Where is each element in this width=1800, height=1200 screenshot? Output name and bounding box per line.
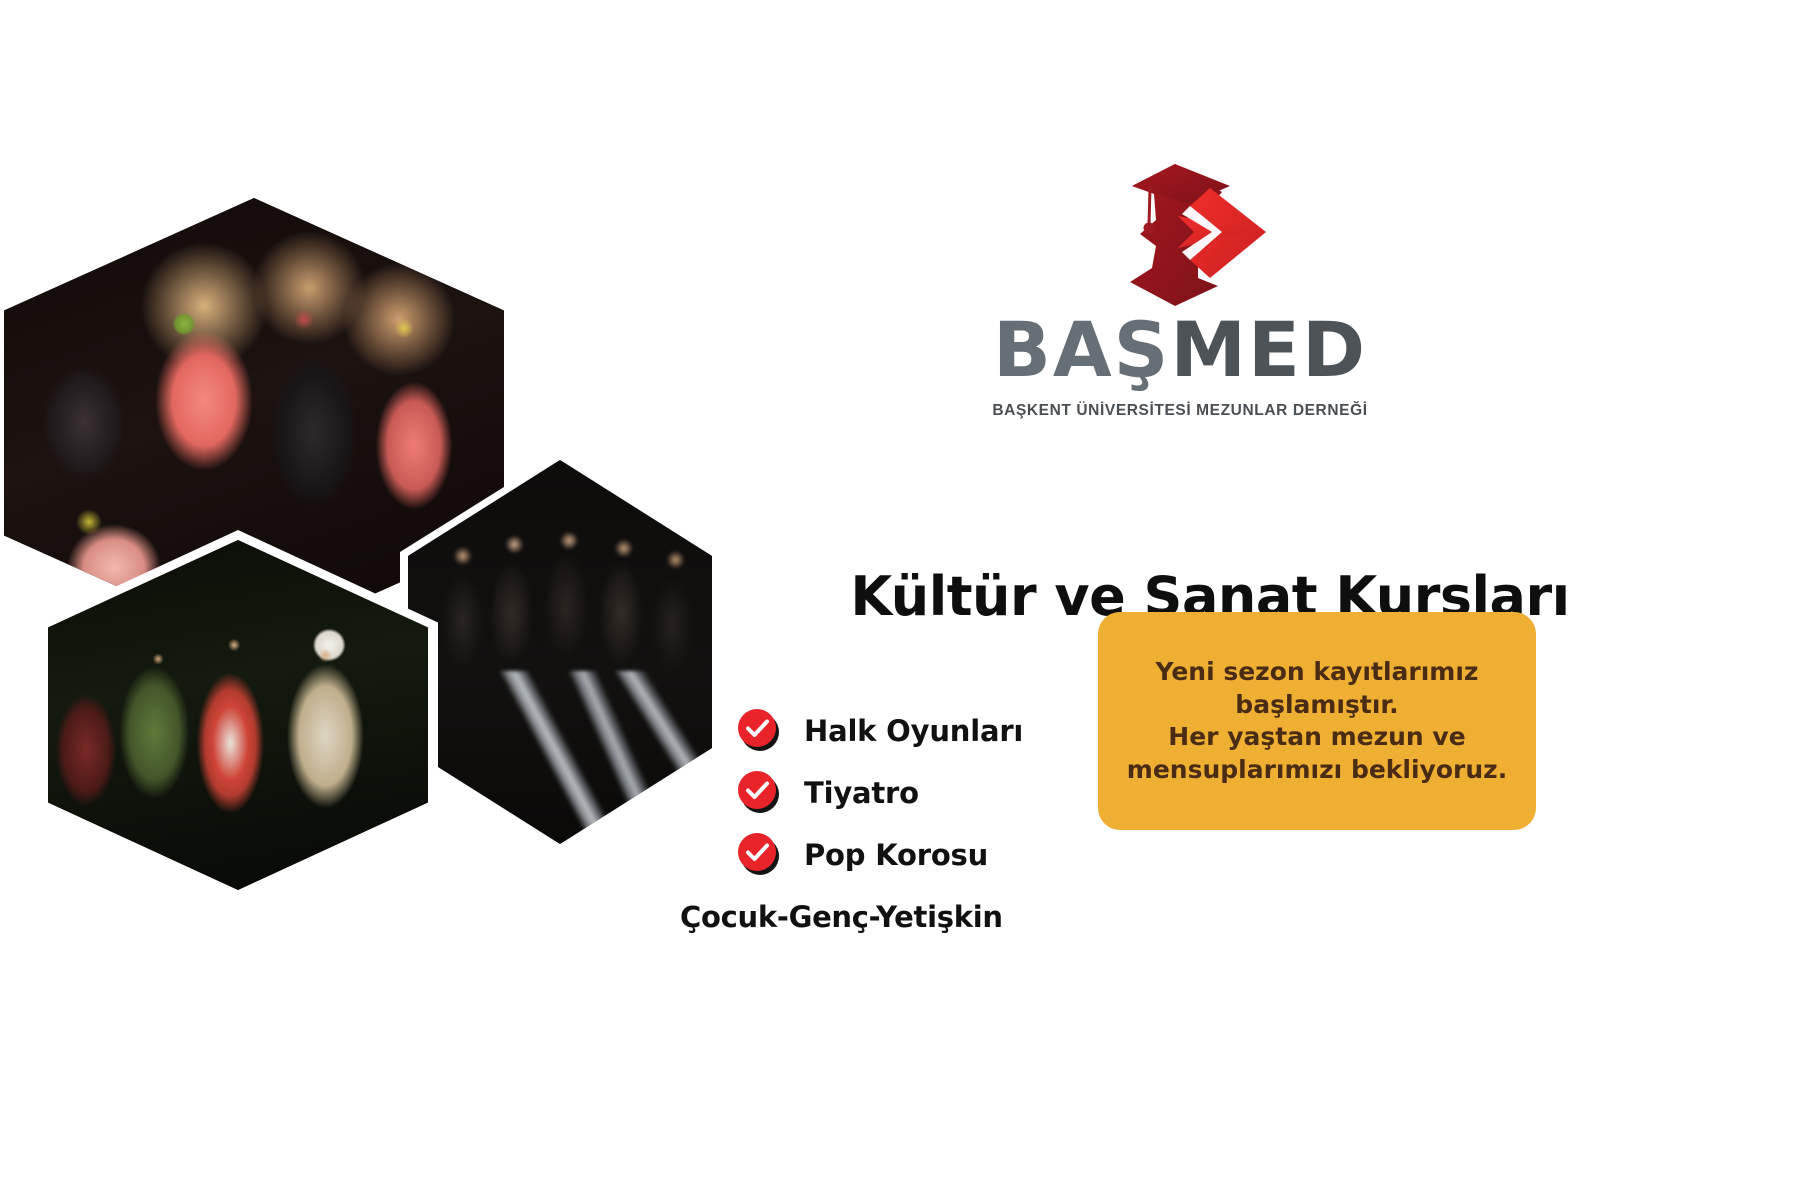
registration-callout: Yeni sezon kayıtlarımız başlamıştır. Her… bbox=[1098, 612, 1536, 830]
basmed-logo: BAŞMED BAŞKENT ÜNİVERSİTESİ MEZUNLAR DER… bbox=[950, 160, 1410, 460]
list-item-label: Tiyatro bbox=[804, 776, 919, 810]
check-circle-icon bbox=[738, 709, 782, 753]
photo-collage bbox=[0, 0, 820, 1200]
wordmark-part-2: MED bbox=[1170, 305, 1367, 394]
basmed-wordmark: BAŞMED bbox=[950, 312, 1410, 388]
callout-line-1: Yeni sezon kayıtlarımız bbox=[1127, 656, 1507, 689]
list-item-label: Pop Korosu bbox=[804, 838, 988, 872]
wordmark-part-1: BAŞ bbox=[993, 305, 1170, 394]
callout-text: Yeni sezon kayıtlarımız başlamıştır. Her… bbox=[1109, 656, 1525, 786]
list-item[interactable]: Halk Oyunları bbox=[738, 700, 1068, 762]
check-circle-icon bbox=[738, 833, 782, 877]
check-circle-icon bbox=[738, 771, 782, 815]
callout-line-2: başlamıştır. bbox=[1127, 689, 1507, 722]
callout-line-4: mensuplarımızı bekliyoruz. bbox=[1127, 754, 1507, 787]
logo-tagline: BAŞKENT ÜNİVERSİTESİ MEZUNLAR DERNEĞİ bbox=[950, 402, 1410, 420]
graduate-arrow-icon bbox=[1070, 160, 1280, 310]
course-list: Halk Oyunları Tiyatro Pop Korosu bbox=[738, 700, 1068, 886]
callout-line-3: Her yaştan mezun ve bbox=[1127, 721, 1507, 754]
list-item[interactable]: Pop Korosu bbox=[738, 824, 1068, 886]
age-groups-label: Çocuk-Genç-Yetişkin bbox=[680, 900, 1100, 934]
poster-canvas: BAŞMED BAŞKENT ÜNİVERSİTESİ MEZUNLAR DER… bbox=[0, 0, 1800, 1200]
list-item-label: Halk Oyunları bbox=[804, 714, 1023, 748]
list-item[interactable]: Tiyatro bbox=[738, 762, 1068, 824]
